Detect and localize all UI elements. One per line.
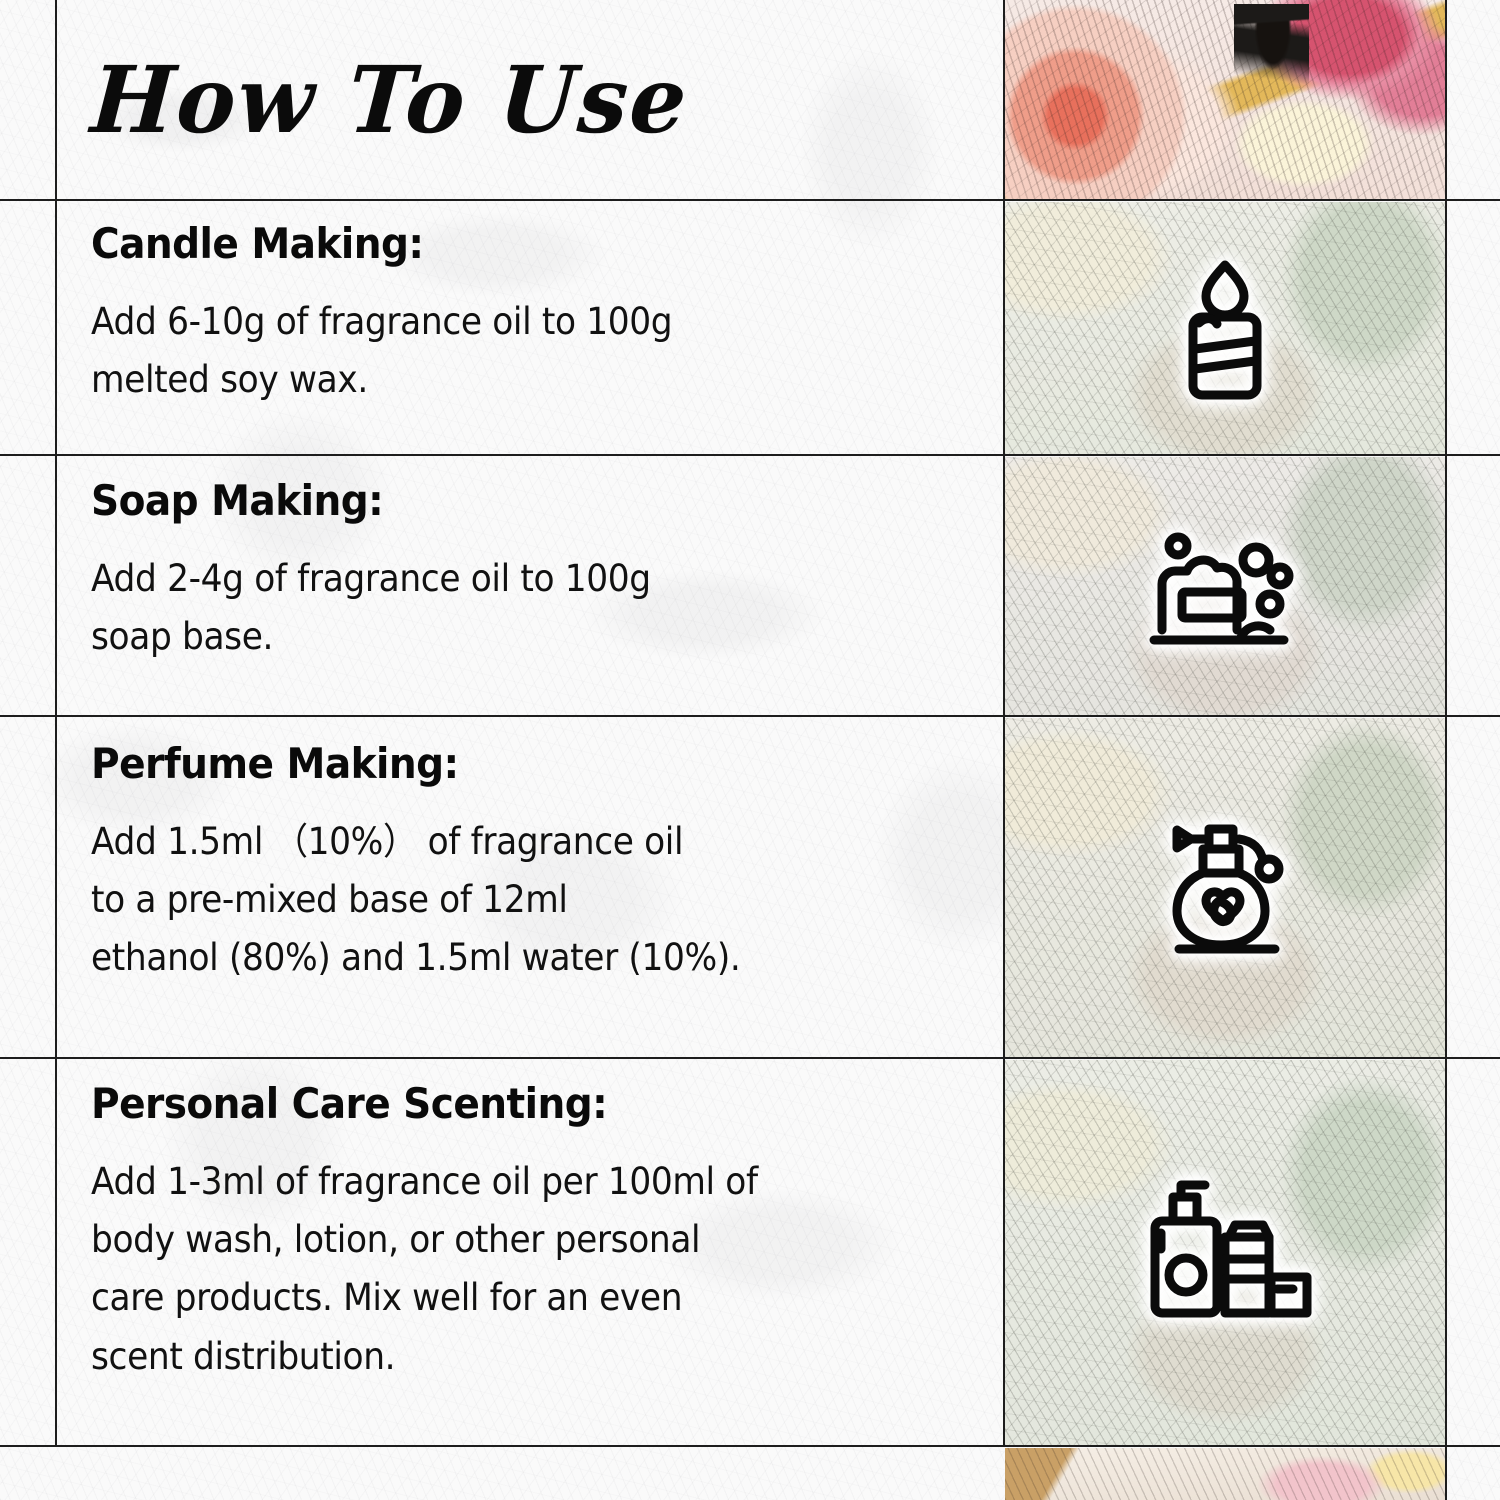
section-candle: Candle Making: Add 6-10g of fragrance oi…: [57, 222, 1005, 409]
page-title: How To Use: [54, 54, 691, 146]
section-heading-personal-care: Personal Care Scenting:: [91, 1082, 913, 1127]
candle-icon: [1005, 202, 1445, 455]
right-border-line: [1445, 0, 1447, 1500]
personal-care-image-cell: [1005, 1060, 1445, 1446]
section-heading-candle: Candle Making:: [91, 222, 913, 267]
section-soap: Soap Making: Add 2-4g of fragrance oil t…: [57, 479, 1005, 666]
rose-and-wood-illustration-partial: [1005, 1448, 1445, 1500]
section-body-soap: Add 2-4g of fragrance oil to 100g soap b…: [91, 550, 913, 667]
lotion-bottle-tube-jar-icon: [1005, 1060, 1445, 1446]
twine-knot-detail: [1234, 4, 1309, 196]
soap-bar-bubbles-icon: [1005, 457, 1445, 716]
section-body-perfume: Add 1.5ml （10%） of fragrance oil to a pr…: [91, 813, 913, 988]
candle-image-cell: [1005, 202, 1445, 455]
section-perfume: Perfume Making: Add 1.5ml （10%） of fragr…: [57, 742, 1005, 988]
perfume-image-cell: [1005, 718, 1445, 1058]
page-title-cell: How To Use: [57, 0, 1005, 200]
header-image-cell: [1005, 0, 1445, 200]
section-body-personal-care: Add 1-3ml of fragrance oil per 100ml of …: [91, 1153, 913, 1387]
section-personal-care: Personal Care Scenting: Add 1-3ml of fra…: [57, 1082, 1005, 1386]
rose-and-soap-bars-illustration: [1005, 0, 1445, 200]
soap-image-cell: [1005, 457, 1445, 716]
section-heading-soap: Soap Making:: [91, 479, 913, 524]
infographic-sheet: How To Use Candle Making: Add 6-10g of f…: [0, 0, 1500, 1500]
section-body-candle: Add 6-10g of fragrance oil to 100g melte…: [91, 293, 913, 410]
perfume-atomizer-icon: [1005, 718, 1445, 1058]
section-heading-perfume: Perfume Making:: [91, 742, 913, 787]
